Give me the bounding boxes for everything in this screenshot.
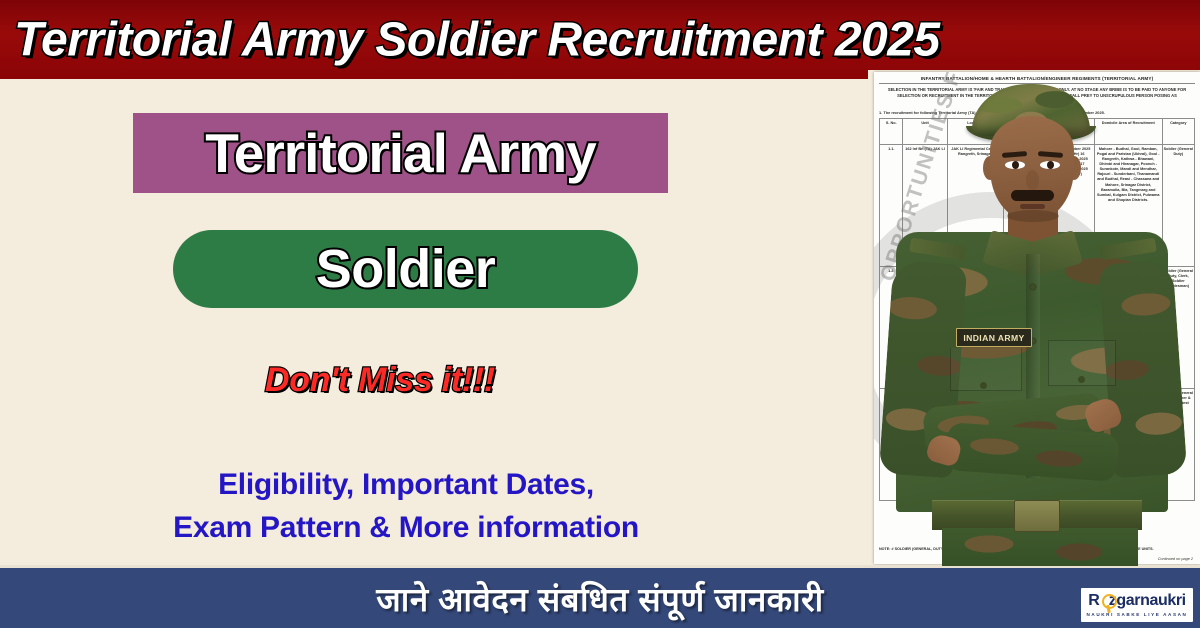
poster-canvas: Territorial Army Soldier Recruitment 202… bbox=[0, 0, 1200, 628]
cell-sno bbox=[880, 389, 903, 501]
cell-location bbox=[947, 389, 1003, 501]
column-header-domicile: Domicile Area of Recruitment bbox=[1094, 119, 1162, 145]
cell-domicile: Mahore - Budhal, Gool, Ramban, Pogal and… bbox=[1094, 145, 1162, 267]
table-row: 1.2. Soldier (General Duty, Clerk, Soldi… bbox=[880, 267, 1195, 389]
post-label: Soldier bbox=[316, 238, 496, 300]
column-header-unit: Unit bbox=[903, 119, 947, 145]
header-banner: Territorial Army Soldier Recruitment 202… bbox=[0, 0, 1200, 79]
column-header-category: Category bbox=[1162, 119, 1194, 145]
cell-domicile: of balance of vacancies selected bbox=[1094, 389, 1162, 501]
brand-tagline: NAUKRI SABKE LIYE AASAN bbox=[1087, 612, 1188, 617]
cell-unit bbox=[903, 389, 947, 501]
organization-label: Territorial Army bbox=[205, 121, 596, 185]
document-continued-label: Continued on page 2 bbox=[1158, 557, 1193, 561]
details-line-1: Eligibility, Important Dates, bbox=[0, 464, 812, 507]
cell-datetime: 15 November 2025 (0500 Hr) 16 November 2… bbox=[1053, 145, 1094, 267]
brand-name: Rozgarnaukri bbox=[1088, 593, 1185, 609]
column-header-contact bbox=[1003, 119, 1053, 145]
notification-visual: INFANTRY BATTALION/HOME & HEARTH BATTALI… bbox=[868, 70, 1200, 566]
cell-contact bbox=[1003, 267, 1053, 389]
cell-contact bbox=[1003, 389, 1053, 501]
cell-category: Soldier (General Duty, Clerk, Soldier Tr… bbox=[1162, 267, 1194, 389]
brand-logo[interactable]: Rozgarnaukri NAUKRI SABKE LIYE AASAN bbox=[1081, 588, 1193, 622]
document-title: INFANTRY BATTALION/HOME & HEARTH BATTALI… bbox=[879, 76, 1195, 84]
table-row: 1.1. 162 Inf Bn (TA) JAK LI JAK LI Regim… bbox=[880, 145, 1195, 267]
table-header-row: S. No. Unit Location Date/ Time Domicile… bbox=[880, 119, 1195, 145]
cell-domicile bbox=[1094, 267, 1162, 389]
cell-sno: 1.2. bbox=[880, 267, 903, 389]
main-content: Territorial Army Soldier Don't Miss it!!… bbox=[0, 79, 868, 565]
footer-bar: जाने आवेदन संबधित संपूर्ण जानकारी Rozgar… bbox=[0, 565, 1200, 628]
details-block: Eligibility, Important Dates, Exam Patte… bbox=[0, 464, 812, 549]
cell-location: JAK LI Regimental Centre, Rangreth, Srin… bbox=[947, 145, 1003, 267]
cell-location bbox=[947, 267, 1003, 389]
cell-category: Soldier (General Duty) bbox=[1162, 145, 1194, 267]
cell-unit bbox=[903, 267, 947, 389]
cell-unit: 162 Inf Bn (TA) JAK LI bbox=[903, 145, 947, 267]
document-warning: SELECTION IN THE TERRITORIAL ARMY IS 'FA… bbox=[879, 87, 1195, 105]
brand-name-prefix: R bbox=[1088, 592, 1099, 609]
post-badge: Soldier bbox=[173, 230, 638, 308]
notification-document: INFANTRY BATTALION/HOME & HEARTH BATTALI… bbox=[874, 72, 1200, 564]
column-header-sno: S. No. bbox=[880, 119, 903, 145]
recruitment-table: S. No. Unit Location Date/ Time Domicile… bbox=[879, 118, 1195, 501]
page-title: Territorial Army Soldier Recruitment 202… bbox=[14, 12, 940, 67]
cell-contact: Tel. bbox=[1003, 145, 1053, 267]
footer-hindi-text: जाने आवेदन संबधित संपूर्ण जानकारी bbox=[0, 568, 1200, 628]
cell-datetime bbox=[1053, 389, 1094, 501]
cell-datetime bbox=[1053, 267, 1094, 389]
column-header-location: Location bbox=[947, 119, 1003, 145]
brand-name-suffix: zgarnaukri bbox=[1109, 592, 1186, 609]
cell-sno: 1.1. bbox=[880, 145, 903, 267]
document-intro: 1. The recruitment for following Territo… bbox=[879, 110, 1195, 115]
organization-badge: Territorial Army bbox=[133, 113, 668, 193]
details-line-2: Exam Pattern & More information bbox=[0, 507, 812, 550]
column-header-datetime: Date/ Time bbox=[1053, 119, 1094, 145]
document-footnote: NOTE: # SOLDIER (GENERAL, DUTY) RECRUITM… bbox=[879, 547, 1195, 552]
urgency-callout: Don't Miss it!!! bbox=[0, 361, 760, 400]
cell-category: Soldier (General Duty) Other & Written t… bbox=[1162, 389, 1194, 501]
table-row: of balance of vacancies selected Soldier… bbox=[880, 389, 1195, 501]
